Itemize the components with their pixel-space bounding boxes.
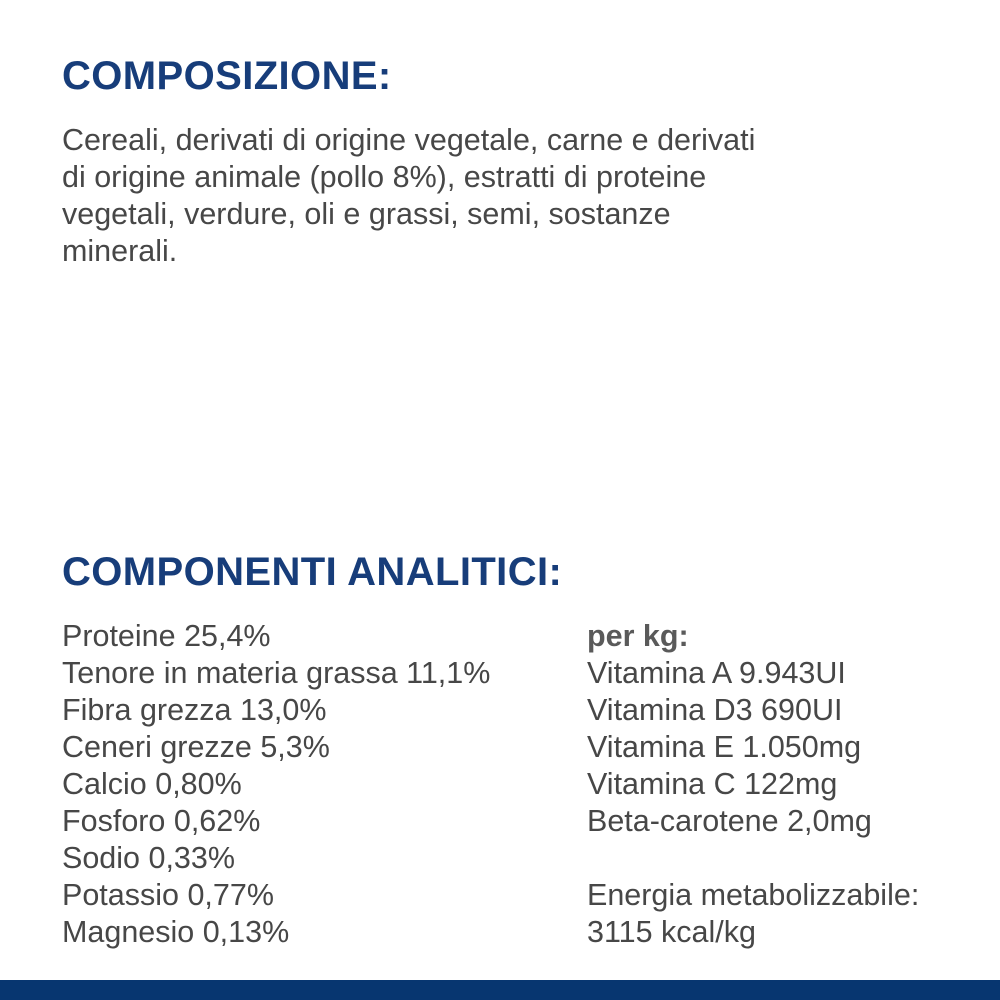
nutrient-row: Ceneri grezze 5,3% [62,729,582,766]
nutrient-row: Sodio 0,33% [62,840,582,877]
nutrition-label-page: COMPOSIZIONE: Cereali, derivati di origi… [0,0,1000,1000]
composition-text-block: Cereali, derivati di origine vegetale, c… [62,122,967,270]
vitamin-row: Vitamina C 122mg [587,766,987,803]
nutrient-row: Potassio 0,77% [62,877,582,914]
composition-line: Cereali, derivati di origine vegetale, c… [62,122,967,159]
energy-label: Energia metabolizzabile: [587,877,987,914]
composition-line: vegetali, verdure, oli e grassi, semi, s… [62,196,967,233]
composition-line: di origine animale (pollo 8%), estratti … [62,159,967,196]
vitamin-list-column: per kg: Vitamina A 9.943UI Vitamina D3 6… [587,618,987,951]
energy-value: 3115 kcal/kg [587,914,987,951]
vitamin-row: Vitamina A 9.943UI [587,655,987,692]
per-kg-label: per kg: [587,618,987,655]
metabolizable-energy-block: Energia metabolizzabile: 3115 kcal/kg [587,877,987,951]
vitamin-row: Vitamina E 1.050mg [587,729,987,766]
nutrient-row: Magnesio 0,13% [62,914,582,951]
bottom-accent-bar [0,980,1000,1000]
vitamin-row: Beta-carotene 2,0mg [587,803,987,840]
nutrient-row: Fibra grezza 13,0% [62,692,582,729]
nutrient-row: Tenore in materia grassa 11,1% [62,655,582,692]
analytical-components-columns: Proteine 25,4% Tenore in materia grassa … [0,618,1000,958]
nutrient-row: Calcio 0,80% [62,766,582,803]
nutrient-list-column: Proteine 25,4% Tenore in materia grassa … [62,618,582,951]
nutrient-row: Proteine 25,4% [62,618,582,655]
nutrient-row: Fosforo 0,62% [62,803,582,840]
composition-line: minerali. [62,233,967,270]
composition-heading: COMPOSIZIONE: [62,54,392,98]
analytical-components-heading: COMPONENTI ANALITICI: [62,550,562,594]
vitamin-row: Vitamina D3 690UI [587,692,987,729]
